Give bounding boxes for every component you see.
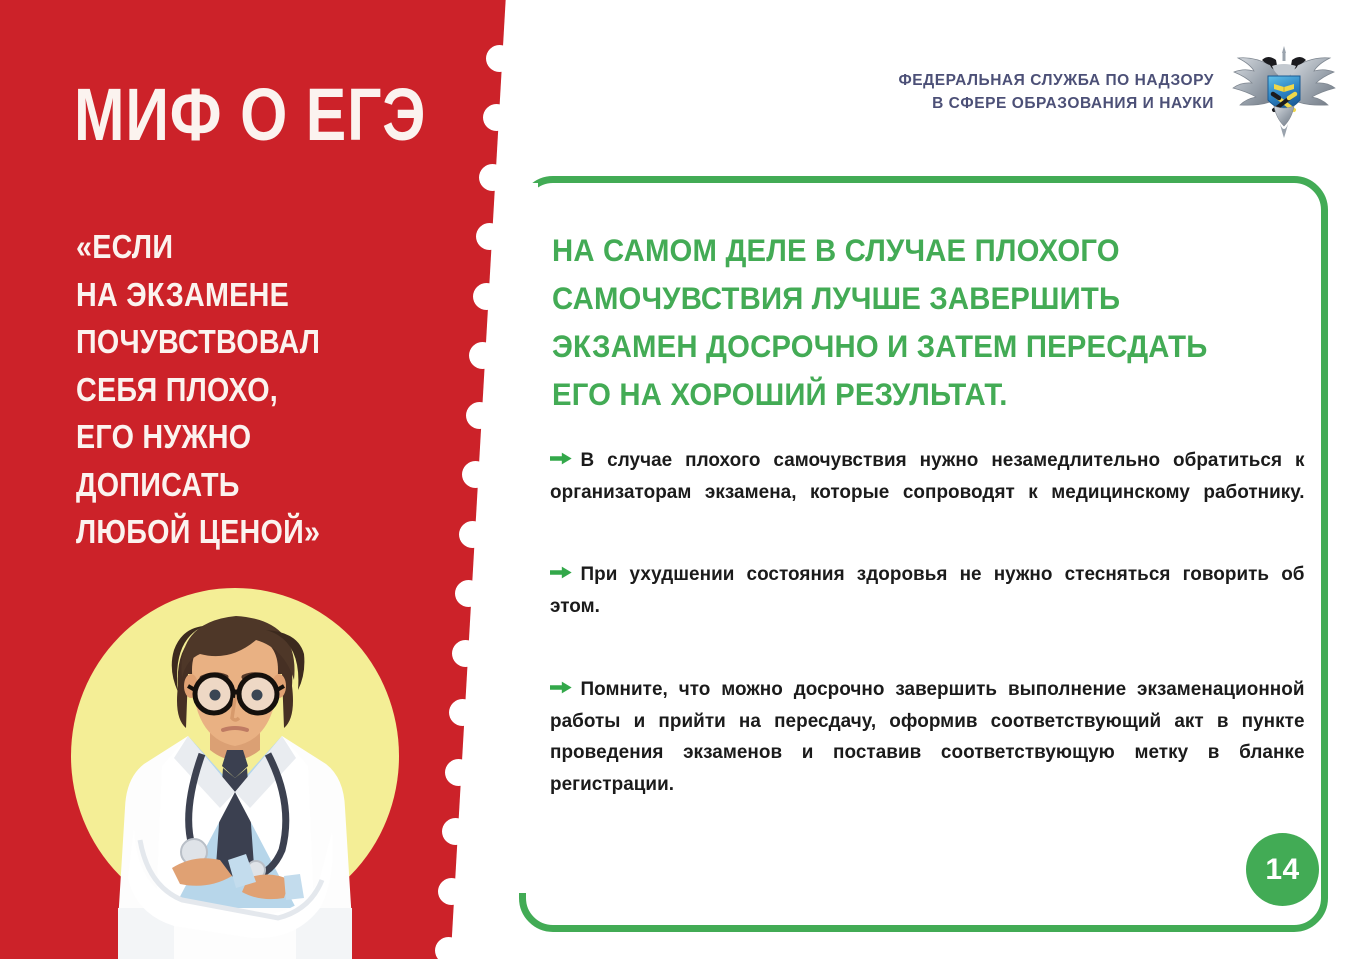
fact-bullet-list: В случае плохого самочувствия нужно неза…: [550, 445, 1316, 852]
myth-line: ЛЮБОЙ ЦЕНОЙ»: [76, 508, 407, 556]
myth-line: НА ЭКЗАМЕНЕ: [76, 271, 407, 319]
green-arrow-right-icon: [550, 681, 572, 694]
myth-quote: «ЕСЛИ НА ЭКЗАМЕНЕ ПОЧУВСТВОВАЛ СЕБЯ ПЛОХ…: [76, 223, 407, 556]
perforation-notch: [466, 402, 493, 429]
agency-name-line-2: В СФЕРЕ ОБРАЗОВАНИЯ И НАУКИ: [898, 92, 1214, 115]
page-number-badge: 14: [1246, 833, 1319, 906]
list-item: В случае плохого самочувствия нужно неза…: [550, 445, 1316, 540]
myth-line: ПОЧУВСТВОВАЛ: [76, 318, 407, 366]
myth-line: ДОПИСАТЬ: [76, 461, 407, 509]
perforation-notch: [452, 640, 479, 667]
green-arrow-right-icon: [550, 452, 572, 465]
slide-root: МИФ О ЕГЭ «ЕСЛИ НА ЭКЗАМЕНЕ ПОЧУВСТВОВАЛ…: [0, 0, 1362, 959]
list-item: Помните, что можно досрочно завершить вы…: [550, 674, 1316, 833]
perforation-notch: [435, 937, 462, 959]
perforation-notch: [442, 818, 469, 845]
brand-header: ФЕДЕРАЛЬНАЯ СЛУЖБА ПО НАДЗОРУ В СФЕРЕ ОБ…: [898, 44, 1340, 140]
perforation-notch: [449, 699, 476, 726]
fact-heading-line: САМОЧУВСТВИЯ ЛУЧШЕ ЗАВЕРШИТЬ: [552, 274, 1231, 322]
doctor-with-crossed-arms-illustration: [70, 578, 400, 959]
list-item-text: Помните, что можно досрочно завершить вы…: [550, 674, 1305, 833]
list-item: При ухудшении состояния здоровья не нужн…: [550, 559, 1316, 654]
agency-name-line-1: ФЕДЕРАЛЬНАЯ СЛУЖБА ПО НАДЗОРУ: [898, 69, 1214, 92]
myth-line: СЕБЯ ПЛОХО,: [76, 366, 407, 414]
rosobrnadzor-eagle-emblem: [1228, 44, 1340, 140]
fact-heading-line: ЭКЗАМЕН ДОСРОЧНО И ЗАТЕМ ПЕРЕСДАТЬ: [552, 322, 1231, 370]
list-item-text: При ухудшении состояния здоровья не нужн…: [550, 559, 1305, 654]
card-left-edge-mask: [512, 183, 538, 893]
list-item-text: В случае плохого самочувствия нужно неза…: [550, 445, 1305, 540]
page-title: МИФ О ЕГЭ: [74, 78, 418, 152]
perforation-notch: [473, 283, 500, 310]
page-number-text: 14: [1265, 853, 1299, 887]
perforation-notch: [483, 104, 510, 131]
perforation-notch: [459, 521, 486, 548]
myth-line: «ЕСЛИ: [76, 223, 407, 271]
perforation-notch: [486, 45, 513, 72]
fact-heading-line: ЕГО НА ХОРОШИЙ РЕЗУЛЬТАТ.: [552, 370, 1231, 418]
green-arrow-right-icon: [550, 566, 572, 579]
perforation-notch: [476, 223, 503, 250]
bullet-sentence: В случае плохого самочувствия нужно неза…: [550, 450, 1305, 503]
perforation-notch: [445, 759, 472, 786]
fact-heading: НА САМОМ ДЕЛЕ В СЛУЧАЕ ПЛОХОГО САМОЧУВСТ…: [552, 226, 1231, 418]
agency-name: ФЕДЕРАЛЬНАЯ СЛУЖБА ПО НАДЗОРУ В СФЕРЕ ОБ…: [898, 69, 1214, 115]
bullet-sentence: При ухудшении состояния здоровья не нужн…: [550, 564, 1305, 617]
page-title-text: МИФ О ЕГЭ: [74, 73, 426, 156]
perforation-notch: [438, 878, 465, 905]
bullet-sentence: Помните, что можно досрочно завершить вы…: [550, 679, 1305, 795]
fact-heading-line: НА САМОМ ДЕЛЕ В СЛУЧАЕ ПЛОХОГО: [552, 226, 1231, 274]
perforation-notch: [479, 164, 506, 191]
myth-line: ЕГО НУЖНО: [76, 413, 407, 461]
perforation-notch: [469, 342, 496, 369]
